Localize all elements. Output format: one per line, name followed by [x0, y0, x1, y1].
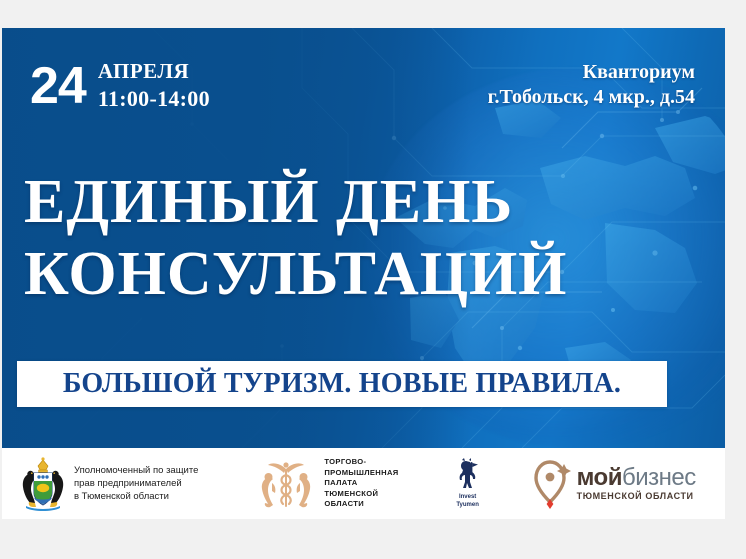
partner-1-text: Уполномоченный по защите прав предприним… — [74, 464, 198, 503]
partner-logo-chamber-of-commerce: ТОРГОВО- ПРОМЫШЛЕННАЯ ПАЛАТА ТЮМЕНСКОЙ О… — [256, 457, 398, 511]
event-month-label: АПРЕЛЯ — [98, 60, 210, 83]
bear-with-flag-icon — [455, 458, 481, 490]
event-date-block: 24 АПРЕЛЯ 11:00-14:00 — [30, 60, 210, 112]
partner-1-line-1: Уполномоченный по защите — [74, 464, 198, 477]
moy-biznes-tagline: ТЮМЕНСКОЙ ОБЛАСТИ — [577, 491, 696, 501]
partner-logo-moy-biznes: мойбизнес ТЮМЕНСКОЙ ОБЛАСТИ — [533, 459, 696, 509]
partner-logo-bar: Уполномоченный по защите прав предприним… — [2, 448, 725, 519]
event-headline: ЕДИНЫЙ ДЕНЬ КОНСУЛЬТАЦИЙ — [24, 166, 684, 310]
moy-biznes-word-bold: мой — [577, 464, 622, 491]
partner-logo-invest-tyumen: Invest Tyumen — [455, 458, 481, 509]
screenshot-root: 24 АПРЕЛЯ 11:00-14:00 Кванториум г.Тобол… — [0, 0, 746, 559]
moy-biznes-wordmark: мойбизнес — [577, 466, 696, 490]
tyumen-coat-of-arms-icon — [20, 457, 66, 511]
moy-biznes-word-light: бизнес — [622, 464, 696, 491]
event-day-number: 24 — [30, 60, 86, 112]
partner-4-text: мойбизнес ТЮМЕНСКОЙ ОБЛАСТИ — [577, 466, 696, 501]
partner-2-line-5: ОБЛАСТИ — [324, 499, 398, 510]
partner-2-line-4: ТЮМЕНСКОЙ — [324, 489, 398, 500]
event-time-range: 11:00-14:00 — [98, 86, 210, 112]
partner-logo-business-ombudsman: Уполномоченный по защите прав предприним… — [20, 457, 198, 511]
partner-3-line-2: Tyumen — [456, 501, 479, 509]
event-venue-block: Кванториум г.Тобольск, 4 мкр., д.54 — [488, 60, 695, 110]
poster-content: 24 АПРЕЛЯ 11:00-14:00 Кванториум г.Тобол… — [2, 28, 725, 448]
caduceus-lions-icon — [256, 457, 316, 511]
partner-1-line-2: прав предпринимателей — [74, 477, 198, 490]
partner-2-text: ТОРГОВО- ПРОМЫШЛЕННАЯ ПАЛАТА ТЮМЕНСКОЙ О… — [324, 457, 398, 510]
partner-2-line-1: ТОРГОВО- — [324, 457, 398, 468]
partner-3-line-1: Invest — [456, 493, 479, 501]
headline-line-1: ЕДИНЫЙ ДЕНЬ — [24, 168, 513, 236]
event-poster: 24 АПРЕЛЯ 11:00-14:00 Кванториум г.Тобол… — [2, 28, 725, 519]
venue-name: Кванториум — [488, 60, 695, 85]
location-pin-icon — [533, 459, 571, 509]
venue-address: г.Тобольск, 4 мкр., д.54 — [488, 85, 695, 110]
partner-3-text: Invest Tyumen — [456, 493, 479, 509]
partner-2-line-3: ПАЛАТА — [324, 478, 398, 489]
event-subtitle-text: БОЛЬШОЙ ТУРИЗМ. НОВЫЕ ПРАВИЛА. — [63, 368, 621, 400]
partner-2-line-2: ПРОМЫШЛЕННАЯ — [324, 468, 398, 479]
event-subtitle-banner: БОЛЬШОЙ ТУРИЗМ. НОВЫЕ ПРАВИЛА. — [17, 361, 667, 407]
partner-1-line-3: в Тюменской области — [74, 490, 198, 503]
headline-line-2: КОНСУЛЬТАЦИЙ — [24, 238, 684, 310]
